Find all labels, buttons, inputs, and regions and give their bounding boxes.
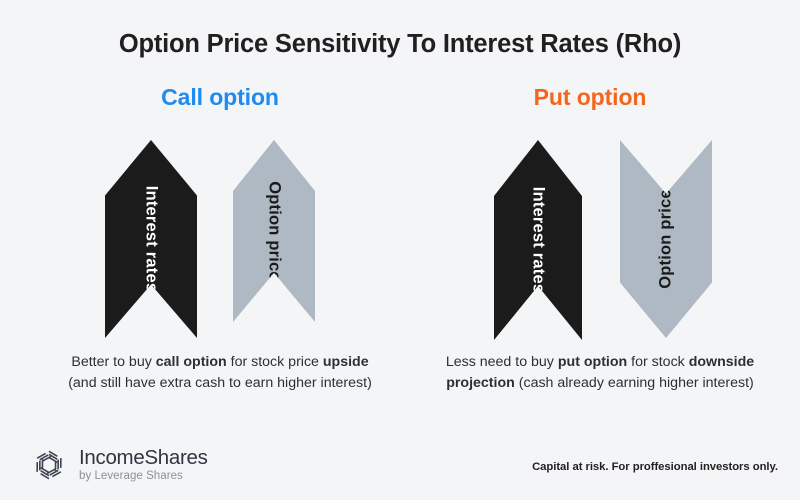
arrow-put-option-price: Option price (620, 140, 712, 338)
arrow-label-put-option-price: Option price (657, 189, 676, 289)
caption-call: Better to buy call option for stock pric… (60, 352, 380, 394)
risk-disclaimer: Capital at risk. For proffesional invest… (532, 461, 778, 473)
arrow-call-option-price: Option price (233, 140, 315, 322)
column-heading-call: Call option (50, 84, 390, 111)
incomeshares-hexagon-pinwheel-icon (30, 446, 68, 484)
brand-name: IncomeShares (79, 448, 208, 469)
arrow-label-call-interest-rates: Interest rates (142, 186, 161, 292)
brand-tagline: by Leverage Shares (79, 471, 208, 483)
arrow-label-put-interest-rates: Interest rates (529, 187, 548, 293)
arrow-group-call: Interest rates Option price (95, 140, 345, 340)
arrow-put-interest-rates: Interest rates (494, 140, 582, 340)
brand-logo: IncomeShares by Leverage Shares (30, 446, 208, 484)
arrow-label-call-option-price: Option price (265, 181, 284, 281)
infographic-canvas: Option Price Sensitivity To Interest Rat… (0, 0, 800, 500)
arrow-call-interest-rates: Interest rates (105, 140, 197, 338)
brand-wordmark: IncomeShares by Leverage Shares (79, 448, 208, 483)
caption-put: Less need to buy put option for stock do… (440, 352, 760, 394)
arrow-group-put: Interest rates Option price (465, 140, 725, 340)
column-heading-put: Put option (420, 84, 760, 111)
page-title: Option Price Sensitivity To Interest Rat… (0, 30, 800, 59)
